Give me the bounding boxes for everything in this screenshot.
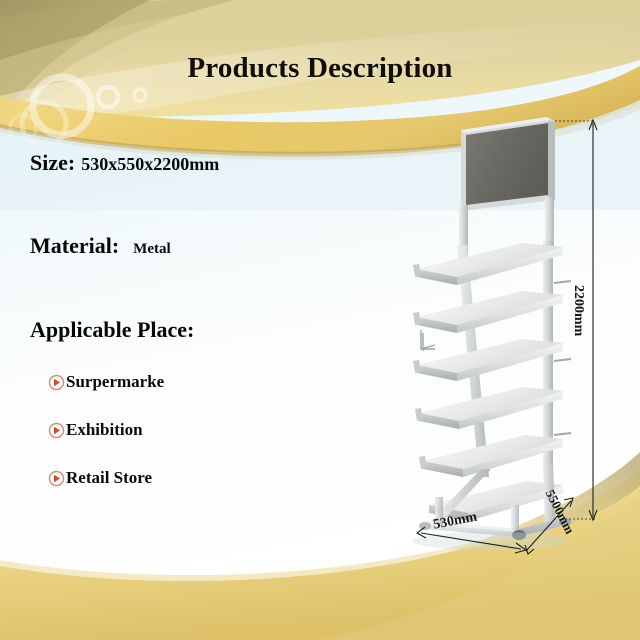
spec-row-material: Material: Metal — [30, 233, 360, 259]
spec-row-size: Size: 530x550x2200mm — [30, 150, 360, 176]
arrow-bullet-icon — [48, 470, 65, 487]
dimension-label-height: 2200mm — [570, 285, 586, 336]
applicable-place-list: Surpermarke Exhibition Retail Store — [48, 370, 348, 514]
arrow-bullet-icon — [48, 374, 65, 391]
product-description-banner: Products Description Size: 530x550x2200m… — [0, 0, 640, 640]
material-value: Metal — [133, 241, 170, 258]
list-item: Retail Store — [48, 466, 348, 490]
list-item: Exhibition — [48, 418, 348, 442]
product-photo-display-rack — [395, 105, 640, 565]
rack-shelves — [413, 243, 563, 521]
size-value: 530x550x2200mm — [81, 154, 219, 175]
arrow-bullet-icon — [48, 422, 65, 439]
specifications-block: Size: 530x550x2200mm Material: Metal App… — [30, 150, 360, 343]
list-item-label: Retail Store — [66, 468, 152, 488]
rack-wire-hook — [421, 330, 435, 351]
rack-header-panel — [461, 117, 555, 211]
list-item-label: Surpermarke — [66, 372, 164, 392]
list-item: Surpermarke — [48, 370, 348, 394]
list-item-label: Exhibition — [66, 420, 143, 440]
size-label: Size: — [30, 150, 75, 176]
page-title: Products Description — [0, 52, 640, 85]
material-label: Material: — [30, 233, 119, 259]
applicable-place-label: Applicable Place: — [30, 317, 360, 343]
